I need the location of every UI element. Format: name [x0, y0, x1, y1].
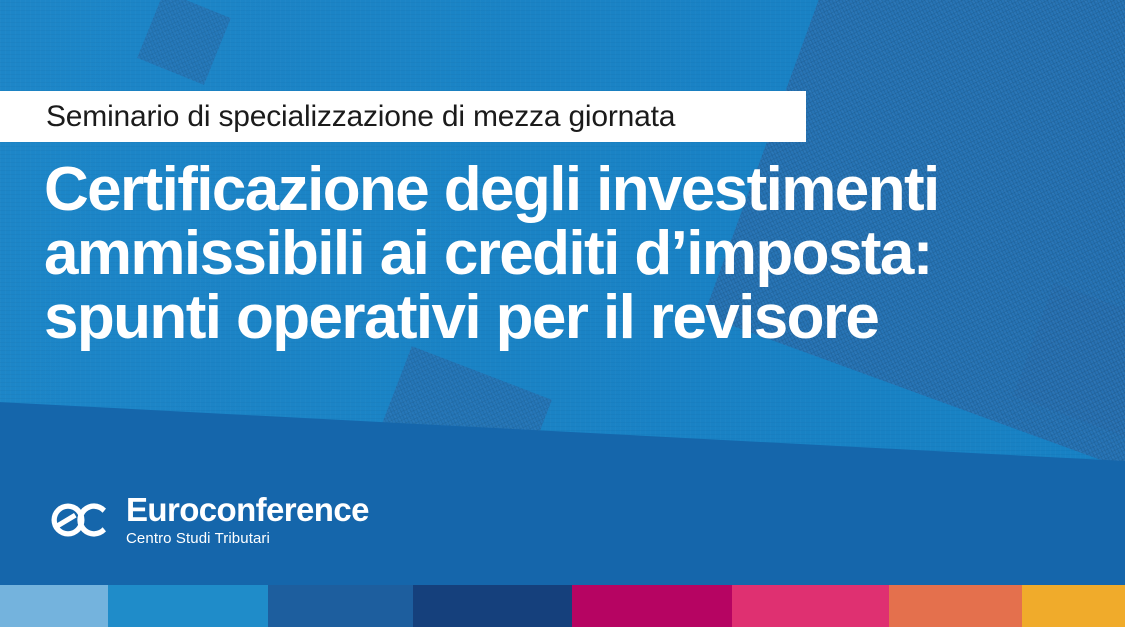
stripe-band-azure	[108, 585, 268, 627]
eyebrow-badge: Seminario di specializzazione di mezza g…	[0, 91, 806, 142]
color-stripe	[0, 585, 1125, 627]
logo-brand-name: Euroconference	[126, 493, 369, 528]
title-line-2: ammissibili ai crediti d’imposta:	[44, 222, 1074, 286]
stripe-band-pink	[732, 585, 888, 627]
title-line-1: Certificazione degli investimenti	[44, 158, 1074, 222]
euroconference-logo[interactable]: Euroconference Centro Studi Tributari	[46, 493, 369, 547]
logo-tagline: Centro Studi Tributari	[126, 530, 369, 547]
stripe-band-steel-blue	[268, 585, 413, 627]
ec-monogram-icon	[46, 496, 112, 544]
stripe-band-light-blue	[0, 585, 108, 627]
stripe-band-gold	[1022, 585, 1125, 627]
stripe-band-orange	[889, 585, 1022, 627]
eyebrow-label: Seminario di specializzazione di mezza g…	[46, 100, 675, 134]
stripe-band-magenta	[572, 585, 733, 627]
stripe-band-navy	[413, 585, 572, 627]
logo-text-block: Euroconference Centro Studi Tributari	[126, 493, 369, 547]
page-title: Certificazione degli investimenti ammiss…	[44, 158, 1074, 350]
title-line-3: spunti operativi per il revisore	[44, 286, 1074, 350]
seminar-promo-banner: Seminario di specializzazione di mezza g…	[0, 0, 1125, 627]
